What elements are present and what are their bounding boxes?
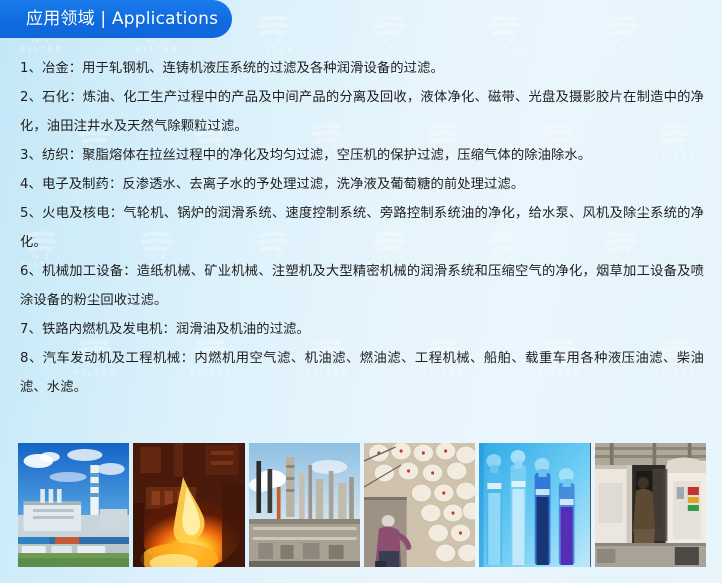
application-item-8: 8、汽车发动机及工程机械：内燃机用空气滤、机油滤、燃油滤、工程机械、船舶、载重车…	[20, 344, 704, 402]
steel-mill-photo	[133, 443, 244, 567]
applications-list: 1、冶金：用于轧钢机、连铸机液压系统的过滤及各种润滑设备的过滤。 2、石化：炼油…	[20, 54, 704, 402]
refinery-photo	[249, 443, 360, 567]
power-plant-photo	[18, 443, 129, 567]
section-header-pill: 应用领域 | Applications	[0, 0, 232, 38]
application-item-2: 2、石化：炼油、化工生产过程中的产品及中间产品的分离及回收，液体净化、磁带、光盘…	[20, 83, 704, 141]
application-item-3: 3、纺织：聚脂熔体在拉丝过程中的净化及均匀过滤，空压机的保护过滤，压缩气体的除油…	[20, 141, 704, 170]
textile-spools-photo	[364, 443, 475, 567]
cnc-machining-photo	[595, 443, 706, 567]
page-title: 应用领域 | Applications	[26, 10, 218, 29]
lab-glassware-photo	[479, 443, 590, 567]
application-item-7: 7、铁路内燃机及发电机：润滑油及机油的过滤。	[20, 315, 704, 344]
page-background: H TFILTERH TFILTERH TFILTERH TFILTERH TF…	[0, 0, 722, 583]
application-item-5: 5、火电及核电：气轮机、锅炉的润滑系统、速度控制系统、旁路控制系统油的净化，给水…	[20, 199, 704, 257]
application-photo-strip	[18, 443, 706, 567]
application-item-1: 1、冶金：用于轧钢机、连铸机液压系统的过滤及各种润滑设备的过滤。	[20, 54, 704, 83]
application-item-6: 6、机械加工设备：造纸机械、矿业机械、注塑机及大型精密机械的润滑系统和压缩空气的…	[20, 257, 704, 315]
application-item-4: 4、电子及制药：反渗透水、去离子水的予处理过滤，洗净液及葡萄糖的前处理过滤。	[20, 170, 704, 199]
